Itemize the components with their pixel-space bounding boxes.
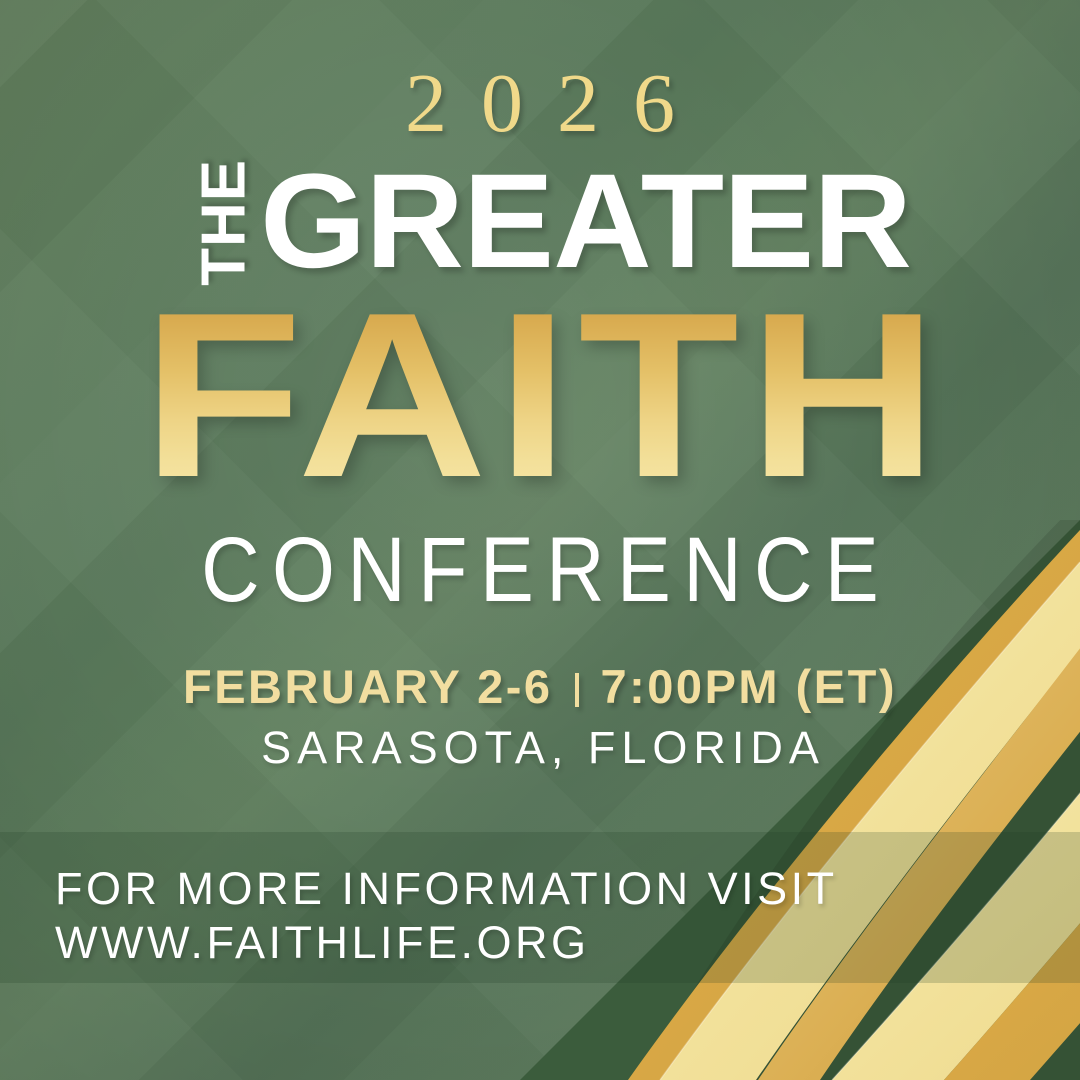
footer-info: FOR MORE INFORMATION VISIT WWW.FAITHLIFE… <box>55 862 838 970</box>
dateline-separator <box>575 673 579 707</box>
title-faith: FAITH <box>0 292 1080 499</box>
event-date: FEBRUARY 2-6 <box>183 660 553 713</box>
footer-line-1: FOR MORE INFORMATION VISIT <box>55 863 838 914</box>
year-label: 2026 <box>0 62 1080 146</box>
event-dateline: FEBRUARY 2-67:00PM (ET) <box>0 660 1080 714</box>
poster-content: 2026 THE GREATER FAITH CONFERENCE FEBRUA… <box>0 0 1080 1080</box>
subtitle-conference: CONFERENCE <box>65 524 1015 616</box>
footer-line-2: WWW.FAITHLIFE.ORG <box>55 916 838 970</box>
conference-poster: 2026 THE GREATER FAITH CONFERENCE FEBRUA… <box>0 0 1080 1080</box>
event-time: 7:00PM (ET) <box>601 660 898 713</box>
event-location: SARASOTA, FLORIDA <box>0 722 1080 774</box>
